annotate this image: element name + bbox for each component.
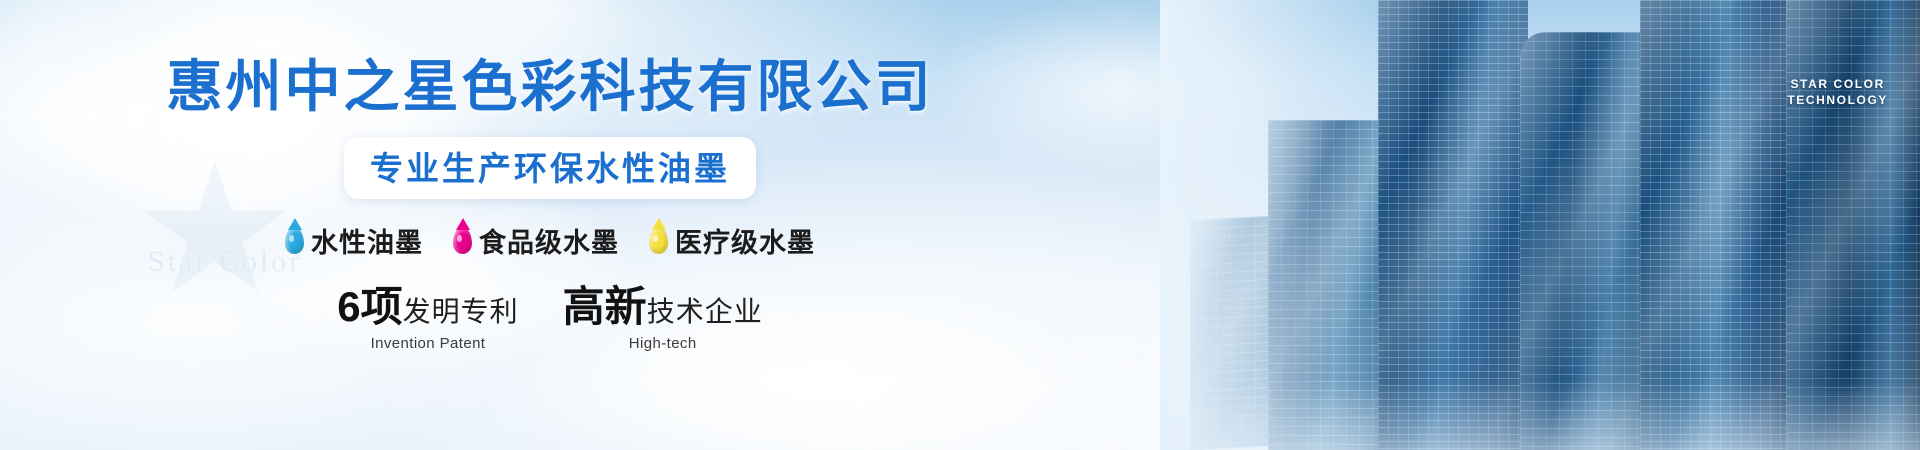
banner-content: 惠州中之星色彩科技有限公司 专业生产环保水性油墨 水性油墨 食品级水墨 医疗级水… <box>0 0 1100 450</box>
credential-list: 6项发明专利 Invention Patent 高新技术企业 High-tech <box>337 286 762 352</box>
company-headline: 惠州中之星色彩科技有限公司 <box>167 56 934 119</box>
credential-emphasis: 6项 <box>337 283 402 330</box>
credential-emphasis: 高新 <box>563 283 647 330</box>
feature-list: 水性油墨 食品级水墨 医疗级水墨 <box>285 221 815 260</box>
promotional-banner: Star Color STAR COLOR TECHNOLOGY 惠州中之星色彩… <box>0 0 1920 450</box>
atmospheric-haze <box>1160 380 1920 450</box>
building-signage: STAR COLOR TECHNOLOGY <box>1787 76 1888 108</box>
ink-drop-cyan-icon <box>285 227 304 254</box>
feature-label: 水性油墨 <box>311 221 423 260</box>
credential-main: 6项发明专利 <box>337 286 518 328</box>
credential-english: Invention Patent <box>337 335 518 352</box>
building-signage-line2: TECHNOLOGY <box>1787 92 1888 108</box>
credential-english: High-tech <box>563 335 763 352</box>
credential-main: 高新技术企业 <box>563 286 763 328</box>
subtitle-pill: 专业生产环保水性油墨 <box>344 137 756 199</box>
feature-label: 食品级水墨 <box>479 221 619 260</box>
credential-item: 高新技术企业 High-tech <box>563 286 763 352</box>
ink-drop-magenta-icon <box>453 227 472 254</box>
building-signage-line1: STAR COLOR <box>1787 76 1888 92</box>
skyscraper-photo: STAR COLOR TECHNOLOGY <box>1160 0 1920 450</box>
credential-item: 6项发明专利 Invention Patent <box>337 286 518 352</box>
feature-item: 医疗级水墨 <box>649 221 815 260</box>
credential-rest: 发明专利 <box>403 296 519 327</box>
credential-rest: 技术企业 <box>647 296 763 327</box>
feature-item: 食品级水墨 <box>453 221 619 260</box>
subtitle-text: 专业生产环保水性油墨 <box>370 150 730 187</box>
feature-item: 水性油墨 <box>285 221 423 260</box>
feature-label: 医疗级水墨 <box>675 221 815 260</box>
ink-drop-yellow-icon <box>649 227 668 254</box>
